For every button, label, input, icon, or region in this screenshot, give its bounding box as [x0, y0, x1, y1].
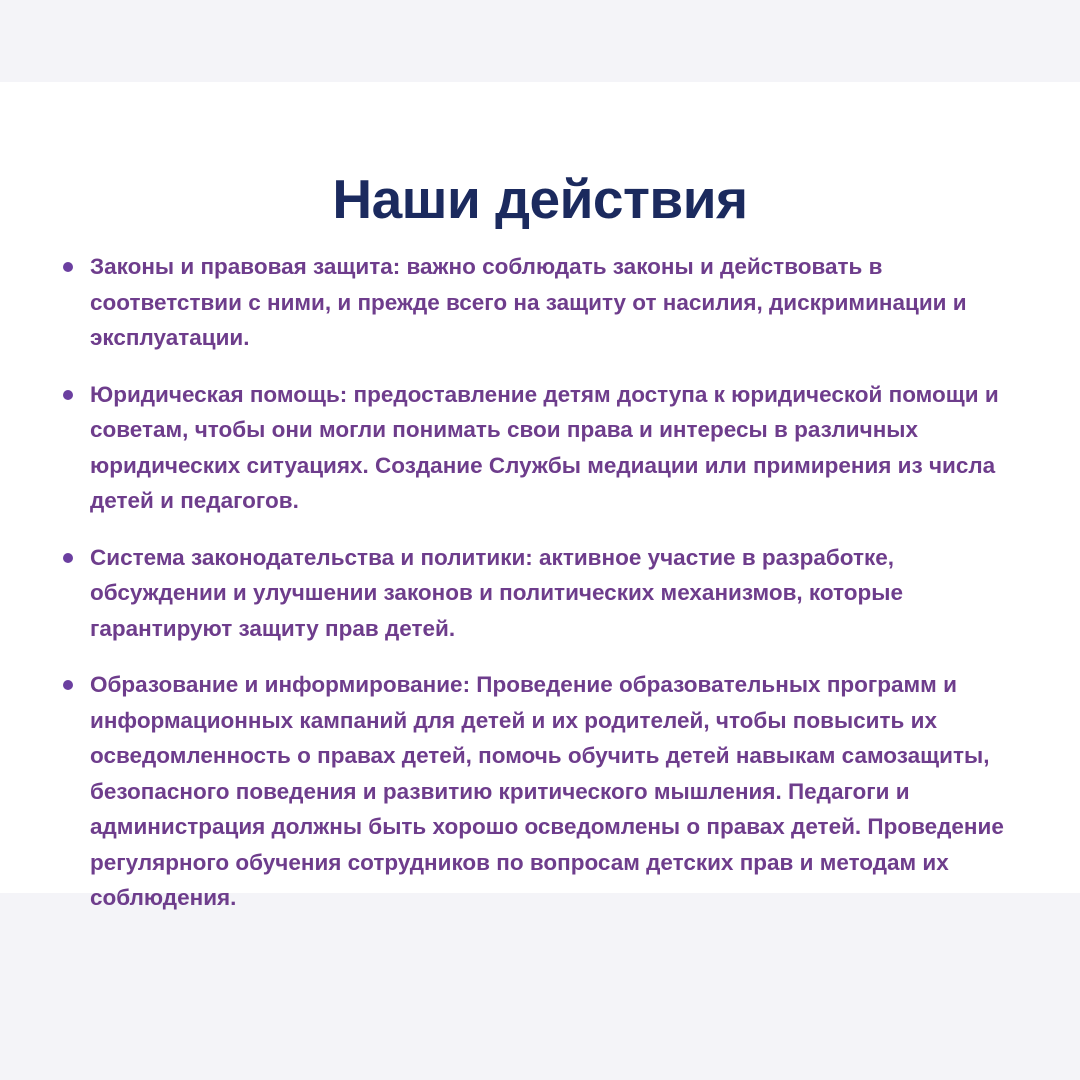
bullet-list: Законы и правовая защита: важно соблюдат… [55, 249, 1015, 916]
list-item-text: Система законодательства и политики: акт… [90, 540, 1015, 647]
list-item: Юридическая помощь: предоставление детям… [55, 377, 1015, 519]
disc-bullet-icon [63, 390, 73, 400]
disc-bullet-icon [63, 553, 73, 563]
disc-bullet-icon [63, 680, 73, 690]
list-item: Законы и правовая защита: важно соблюдат… [55, 249, 1015, 356]
list-item-text: Законы и правовая защита: важно соблюдат… [90, 249, 1015, 356]
page-title: Наши действия [0, 167, 1080, 231]
list-item-text: Образование и информирование: Проведение… [90, 667, 1015, 916]
slide-canvas: Наши действия Законы и правовая защита: … [0, 0, 1080, 1080]
list-item: Образование и информирование: Проведение… [55, 667, 1015, 916]
list-item-text: Юридическая помощь: предоставление детям… [90, 377, 1015, 519]
list-item: Система законодательства и политики: акт… [55, 540, 1015, 647]
disc-bullet-icon [63, 262, 73, 272]
content-card: Наши действия Законы и правовая защита: … [0, 82, 1080, 893]
